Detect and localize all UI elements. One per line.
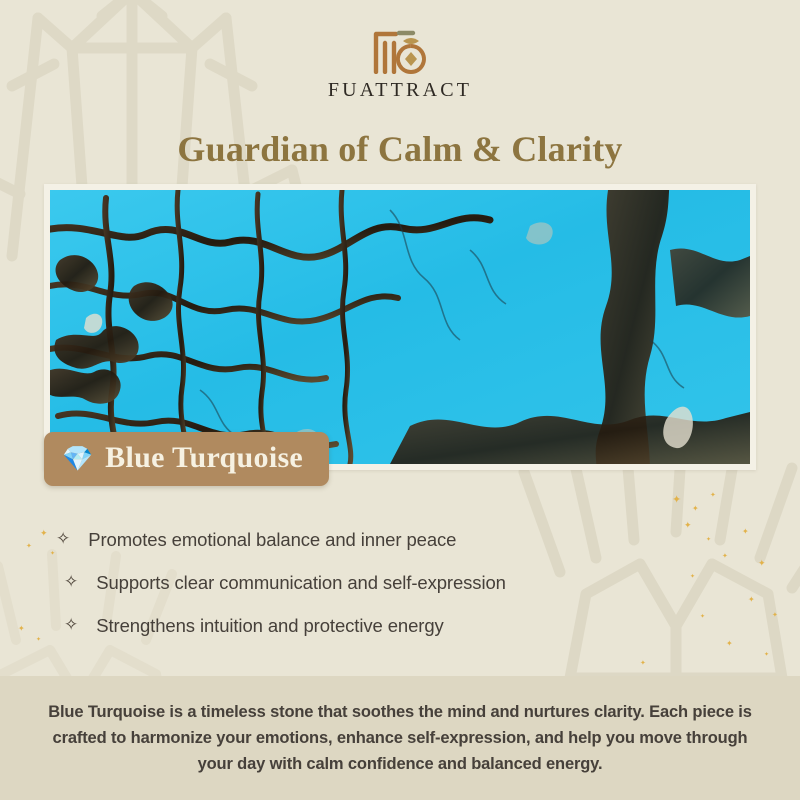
list-item: ✧ Promotes emotional balance and inner p… bbox=[56, 518, 716, 561]
brand-header: FUATTRACT bbox=[0, 26, 800, 102]
sparkle-fleck: ✦ bbox=[710, 492, 716, 499]
diamond-bullet-icon: ✧ bbox=[64, 574, 78, 591]
sparkle-fleck: ✦ bbox=[50, 551, 55, 557]
brand-name: FUATTRACT bbox=[0, 79, 800, 102]
sparkle-fleck: ✦ bbox=[36, 637, 41, 643]
sparkle-fleck: ✦ bbox=[640, 660, 646, 667]
sparkle-fleck: ✦ bbox=[758, 560, 766, 569]
diamond-bullet-icon: ✧ bbox=[64, 617, 78, 634]
footer-band: Blue Turquoise is a timeless stone that … bbox=[0, 676, 800, 800]
sparkle-fleck: ✦ bbox=[672, 494, 681, 505]
sparkle-fleck: ✦ bbox=[726, 640, 733, 648]
list-item: ✧ Strengthens intuition and protective e… bbox=[56, 604, 716, 647]
sparkle-fleck: ✦ bbox=[742, 528, 749, 536]
diamond-bullet-icon: ✧ bbox=[56, 531, 70, 548]
sparkle-fleck: ✦ bbox=[692, 505, 699, 513]
sparkle-fleck: ✦ bbox=[772, 612, 778, 619]
sparkle-fleck: ✦ bbox=[40, 530, 48, 539]
page-title: Guardian of Calm & Clarity bbox=[0, 128, 800, 170]
benefits-list: ✧ Promotes emotional balance and inner p… bbox=[56, 518, 716, 647]
benefit-text: Strengthens intuition and protective ene… bbox=[96, 615, 443, 637]
gem-stone-icon: 💎 bbox=[62, 446, 93, 471]
product-poster: ✦ ✦ ✦ ✦ ✦ ✦ ✦ ✦ ✦ ✦ ✦ ✦ ✦ ✦ ✦ ✦ ✦ ✦ ✦ ✦ … bbox=[0, 0, 800, 800]
gem-monogram-icon bbox=[369, 26, 431, 74]
turquoise-stone-image bbox=[50, 190, 750, 464]
stone-name-label: Blue Turquoise bbox=[105, 441, 303, 475]
hero-image-frame bbox=[44, 184, 756, 470]
sparkle-fleck: ✦ bbox=[748, 596, 755, 604]
list-item: ✧ Supports clear communication and self-… bbox=[56, 561, 716, 604]
sparkle-fleck: ✦ bbox=[26, 543, 32, 550]
benefit-text: Promotes emotional balance and inner pea… bbox=[88, 529, 456, 551]
benefit-text: Supports clear communication and self-ex… bbox=[96, 572, 506, 594]
stone-name-badge: 💎 Blue Turquoise bbox=[44, 432, 329, 486]
turquoise-texture bbox=[50, 190, 750, 464]
sparkle-fleck: ✦ bbox=[722, 553, 728, 560]
sparkle-fleck: ✦ bbox=[764, 652, 769, 658]
footer-description: Blue Turquoise is a timeless stone that … bbox=[40, 699, 760, 777]
sparkle-fleck: ✦ bbox=[18, 625, 25, 633]
